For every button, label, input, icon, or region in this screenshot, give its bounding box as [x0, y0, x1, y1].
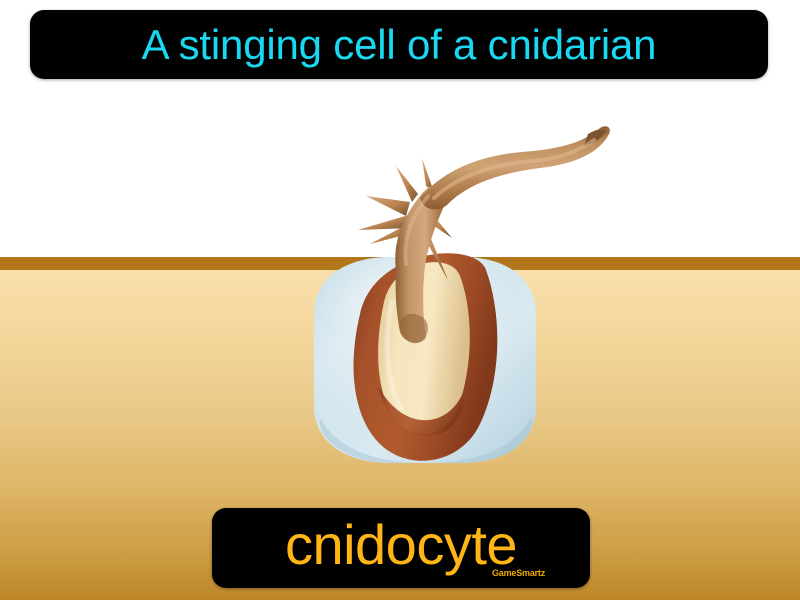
definition-text: A stinging cell of a cnidarian — [142, 24, 657, 66]
thread-arc — [420, 126, 610, 209]
definition-plaque: A stinging cell of a cnidarian — [30, 10, 768, 79]
cnidocyte-illustration — [300, 118, 640, 484]
nematocyst-capsule-group — [354, 253, 498, 460]
watermark-gamesmartz: GameSmartz — [492, 568, 545, 578]
flashcard-canvas: A stinging cell of a cnidarian cnidocyte… — [0, 0, 800, 600]
term-text: cnidocyte — [285, 517, 517, 573]
